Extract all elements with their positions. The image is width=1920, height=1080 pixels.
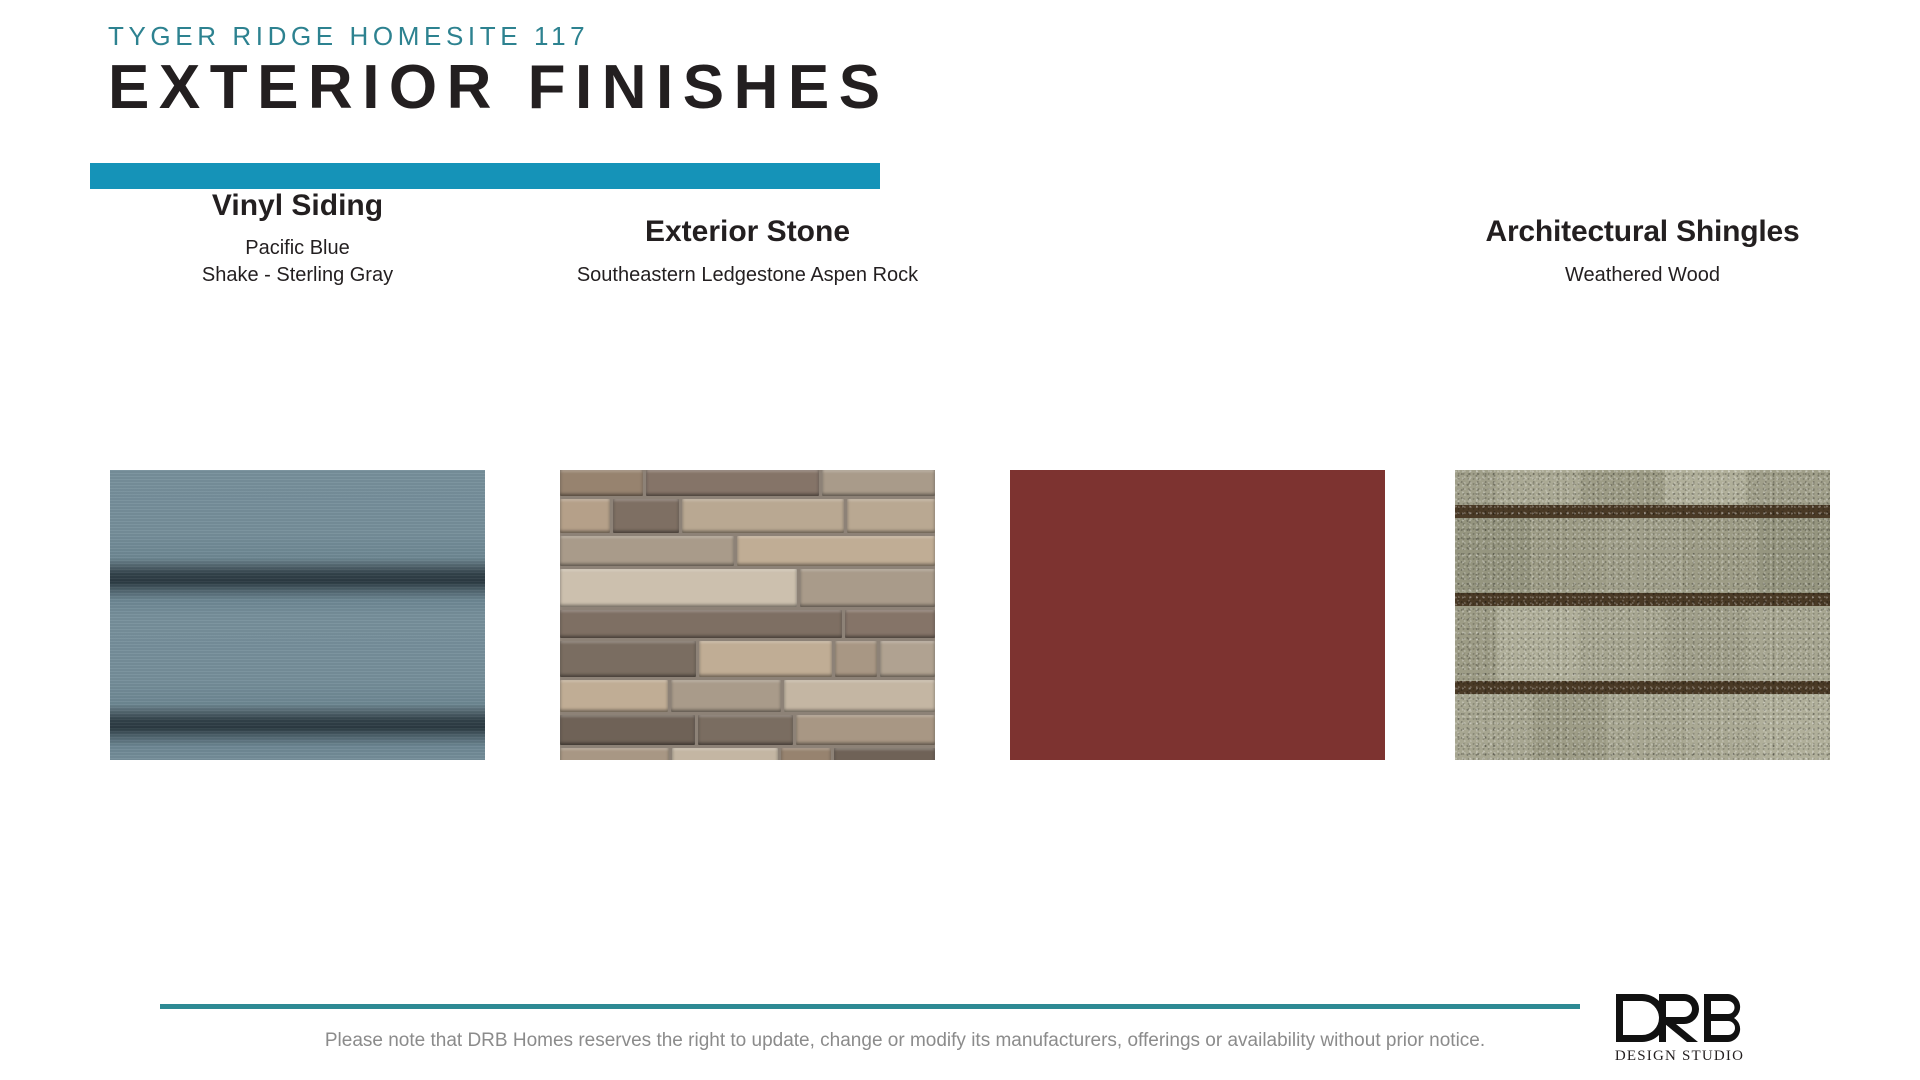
stone-block — [560, 715, 695, 745]
stone-block — [560, 610, 842, 638]
shingle-tab — [1533, 694, 1606, 760]
finish-subtitle: Weathered Wood — [1455, 262, 1830, 288]
stone-block — [698, 715, 793, 745]
logo-subtitle: DESIGN STUDIO — [1612, 1048, 1747, 1065]
stone-block — [560, 748, 669, 760]
shingle-shadow-line — [1455, 593, 1830, 606]
stone-course — [560, 748, 935, 760]
finish-column-architectural-shingles: Architectural Shingles Weathered Wood — [1455, 300, 1830, 590]
shingle-course — [1455, 694, 1830, 760]
stone-block — [847, 499, 935, 533]
stone-block — [880, 641, 935, 677]
stone-course — [560, 569, 935, 607]
finish-labels: Architectural Shingles Weathered Wood — [1455, 214, 1830, 288]
stone-course — [560, 641, 935, 677]
finish-swatch-exterior-stone — [560, 470, 935, 760]
finish-column-exterior-stone: Exterior Stone Southeastern Ledgestone A… — [560, 300, 935, 590]
stone-block — [560, 470, 643, 496]
finish-subtitle-line: Shake - Sterling Gray — [110, 262, 485, 288]
drb-design-studio-logo: DESIGN STUDIO — [1612, 990, 1747, 1065]
stone-block — [781, 748, 831, 760]
shingle-tab — [1608, 694, 1681, 760]
stone-course — [560, 715, 935, 745]
stone-course — [560, 470, 935, 496]
finishes-grid: Vinyl Siding Pacific Blue Shake - Sterli… — [0, 300, 1920, 770]
finish-swatch-vinyl-siding — [110, 470, 485, 760]
finish-subtitle-line: Pacific Blue — [110, 235, 485, 261]
finish-swatch-front-door — [1010, 470, 1385, 760]
stone-block — [671, 680, 781, 712]
stone-block — [796, 715, 935, 745]
finish-column-vinyl-siding: Vinyl Siding Pacific Blue Shake - Sterli… — [110, 300, 485, 590]
page-header: TYGER RIDGE HOMESITE 117 EXTERIOR FINISH… — [108, 22, 1108, 145]
stone-block — [646, 470, 819, 496]
shingle-shadow-line — [1455, 505, 1830, 518]
finish-subtitle: Pacific Blue Shake - Sterling Gray — [110, 235, 485, 288]
stone-block — [800, 569, 935, 607]
stone-course — [560, 536, 935, 566]
stone-block — [699, 641, 832, 677]
stone-block — [737, 536, 935, 566]
stone-block — [560, 641, 696, 677]
stone-block — [560, 680, 668, 712]
finish-title: Architectural Shingles — [1455, 214, 1830, 249]
finish-subtitle-line: Weathered Wood — [1455, 262, 1830, 288]
finish-title: Vinyl Siding — [110, 188, 485, 223]
stone-block — [834, 748, 935, 760]
stone-block — [560, 536, 734, 566]
footer-divider — [160, 1004, 1580, 1009]
finish-subtitle-line: Southeastern Ledgestone Aspen Rock — [560, 262, 935, 288]
stone-course — [560, 680, 935, 712]
title-accent-bar — [90, 163, 880, 189]
stone-block — [784, 680, 935, 712]
stone-block — [560, 499, 610, 533]
finish-subtitle: Southeastern Ledgestone Aspen Rock — [560, 262, 935, 288]
stone-block — [845, 610, 935, 638]
stone-block — [672, 748, 779, 760]
stone-block — [822, 470, 935, 496]
finish-labels: Vinyl Siding Pacific Blue Shake - Sterli… — [110, 188, 485, 288]
page-title: EXTERIOR FINISHES — [108, 57, 890, 119]
stone-block — [682, 499, 844, 533]
stone-block — [560, 569, 797, 607]
finish-swatch-architectural-shingles — [1455, 470, 1830, 760]
stone-block — [835, 641, 877, 677]
page-title-group: EXTERIOR FINISHES — [108, 67, 1108, 145]
drb-logo-icon — [1612, 990, 1742, 1046]
stone-course — [560, 499, 935, 533]
shingle-tab — [1455, 694, 1531, 760]
stone-block — [613, 499, 680, 533]
shingle-tab — [1757, 694, 1830, 760]
finish-labels: Exterior Stone Southeastern Ledgestone A… — [560, 214, 935, 288]
community-homesite-eyebrow: TYGER RIDGE HOMESITE 117 — [108, 22, 1108, 51]
footer-disclaimer: Please note that DRB Homes reserves the … — [0, 1030, 1810, 1052]
shingle-tab — [1683, 694, 1756, 760]
shingle-shadow-line — [1455, 681, 1830, 694]
finish-title: Exterior Stone — [560, 214, 935, 249]
stone-course — [560, 610, 935, 638]
